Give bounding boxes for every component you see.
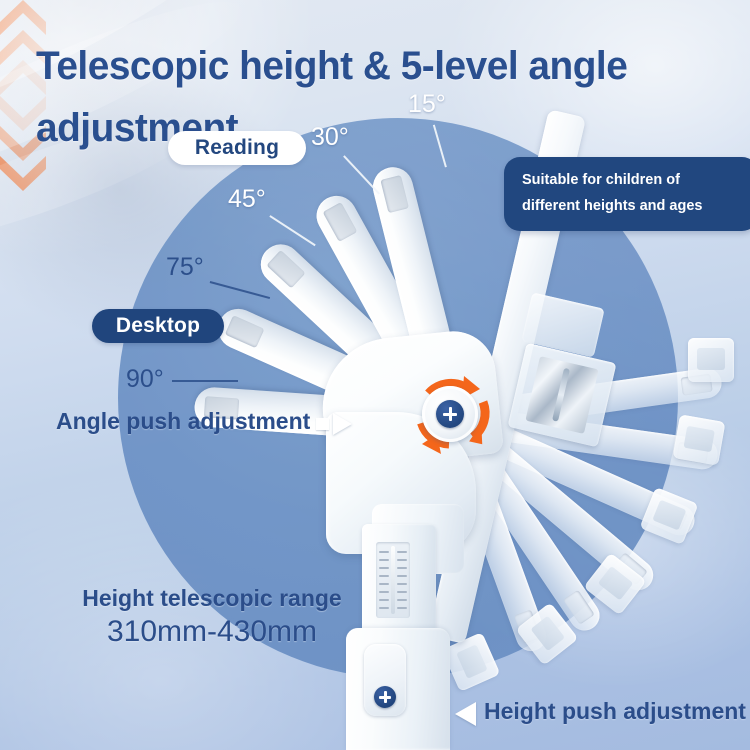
scale-tick [397,591,407,593]
scale-tick [397,551,407,553]
clamp-end [442,632,501,692]
telescoping-pole-upper [362,524,436,634]
angle-label-15: 15° [408,90,446,119]
scale-tick [397,607,407,609]
arrow-left-icon [455,702,481,726]
arm-pad [323,202,358,242]
badge-reading: Reading [168,131,306,165]
angle-push-adjustment-label: Angle push adjustment [56,408,310,435]
arm-pad [266,250,305,289]
callout-box: Suitable for children of different heigh… [504,157,750,231]
arrow-right-icon [316,413,352,435]
scale-tick [397,599,407,601]
arrow-head [333,413,352,435]
badge-desktop: Desktop [92,309,224,343]
callout-line-1: Suitable for children of [522,167,744,193]
angle-label-30: 30° [311,123,349,152]
arm-pad [563,590,595,625]
angle-label-45: 45° [228,185,266,214]
scale-tick [397,583,407,585]
page-title: Telescopic height & 5-level angle adjust… [36,35,715,159]
height-range-label: Height telescopic range [62,585,362,612]
callout-line-2: different heights and ages [522,193,744,219]
height-push-button[interactable] [364,644,406,716]
scale-tick [379,591,389,593]
scale-tick [379,575,389,577]
scale-tick [397,575,407,577]
clamp-end [688,338,734,382]
arrow-head [455,702,476,726]
scale-tick [379,599,389,601]
leader-line-90 [172,380,238,382]
height-scale-window [376,542,410,618]
plus-icon [436,400,464,428]
plus-icon [374,686,396,708]
arm-pad [225,315,265,348]
scale-tick [379,583,389,585]
scale-tick [379,567,389,569]
product-infographic: Telescopic height & 5-level angle adjust… [0,0,750,750]
arrow-tail [316,418,329,430]
angle-rotation-knob[interactable] [404,368,496,460]
scale-bar [391,546,395,614]
clamp-end [673,414,726,465]
angle-label-75: 75° [166,253,204,282]
arm-pad [380,175,409,213]
scale-tick [379,559,389,561]
scale-tick [379,551,389,553]
height-push-adjustment-label: Height push adjustment [484,698,746,725]
height-range-value: 310mm-430mm [62,615,362,649]
scale-tick [379,607,389,609]
angle-label-90: 90° [126,365,164,394]
scale-tick [397,567,407,569]
scale-tick [397,559,407,561]
